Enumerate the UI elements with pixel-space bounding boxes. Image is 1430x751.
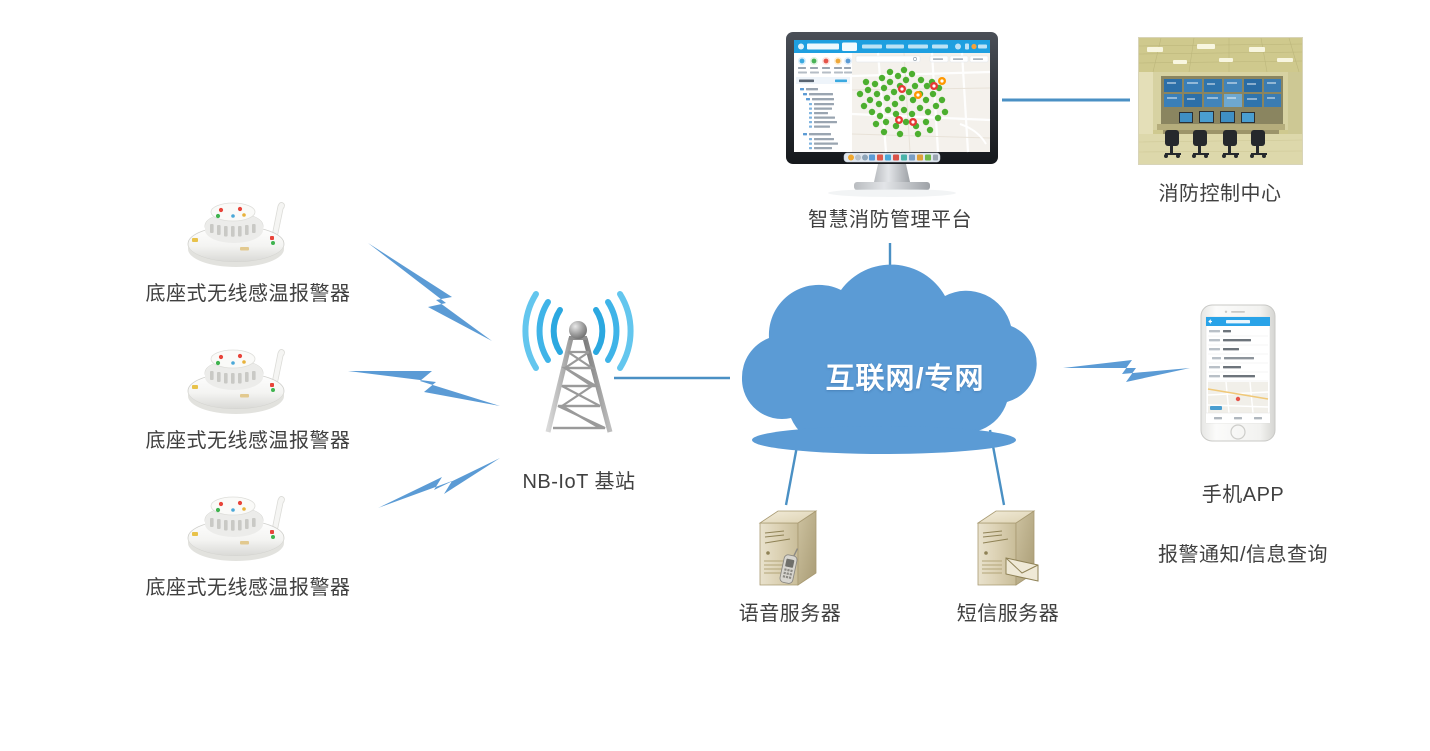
cloud-label: 互联网/专网 [760,355,1050,397]
detector-1-label: 底座式无线感温报警器 [118,280,378,309]
wireless-heat-detector-icon [178,186,298,268]
mobile-phone[interactable] [1198,303,1278,443]
smartphone-icon [1198,303,1278,443]
platform-label: 智慧消防管理平台 [780,206,1000,235]
sms-server-label: 短信服务器 [924,600,1092,629]
voice-server-label: 语音服务器 [706,600,874,629]
sms-server[interactable] [968,503,1048,593]
wireless-link-2 [348,371,500,406]
voice-server-link [786,430,800,505]
server-phone-icon [750,503,830,593]
mobile-app-label: 手机APP 报警通知/信息查询 [1118,450,1368,600]
mobile-app-label-line2: 报警通知/信息查询 [1118,540,1368,570]
wireless-heat-detector-icon [178,333,298,415]
control-center-label: 消防控制中心 [1120,180,1320,209]
desktop-monitor-icon [782,28,1002,203]
mobile-app-link [1063,360,1190,382]
control-room-photo [1139,38,1302,164]
detector-2-label: 底座式无线感温报警器 [118,427,378,456]
detector-3[interactable] [178,480,298,562]
cell-tower-icon [525,294,630,432]
control-center-photo[interactable] [1138,37,1303,165]
detector-1[interactable] [178,186,298,268]
sms-server-link [990,430,1004,505]
platform-monitor[interactable] [782,28,1002,203]
base-station-label: NB-IoT 基站 [468,468,690,497]
wireless-link-1 [368,243,492,341]
server-envelope-icon [968,503,1048,593]
mobile-app-label-line1: 手机APP [1118,480,1368,510]
topology-diagram: 底座式无线感温报警器 [0,0,1430,751]
detector-2[interactable] [178,333,298,415]
detector-3-label: 底座式无线感温报警器 [118,574,378,603]
voice-server[interactable] [750,503,830,593]
wireless-heat-detector-icon [178,480,298,562]
